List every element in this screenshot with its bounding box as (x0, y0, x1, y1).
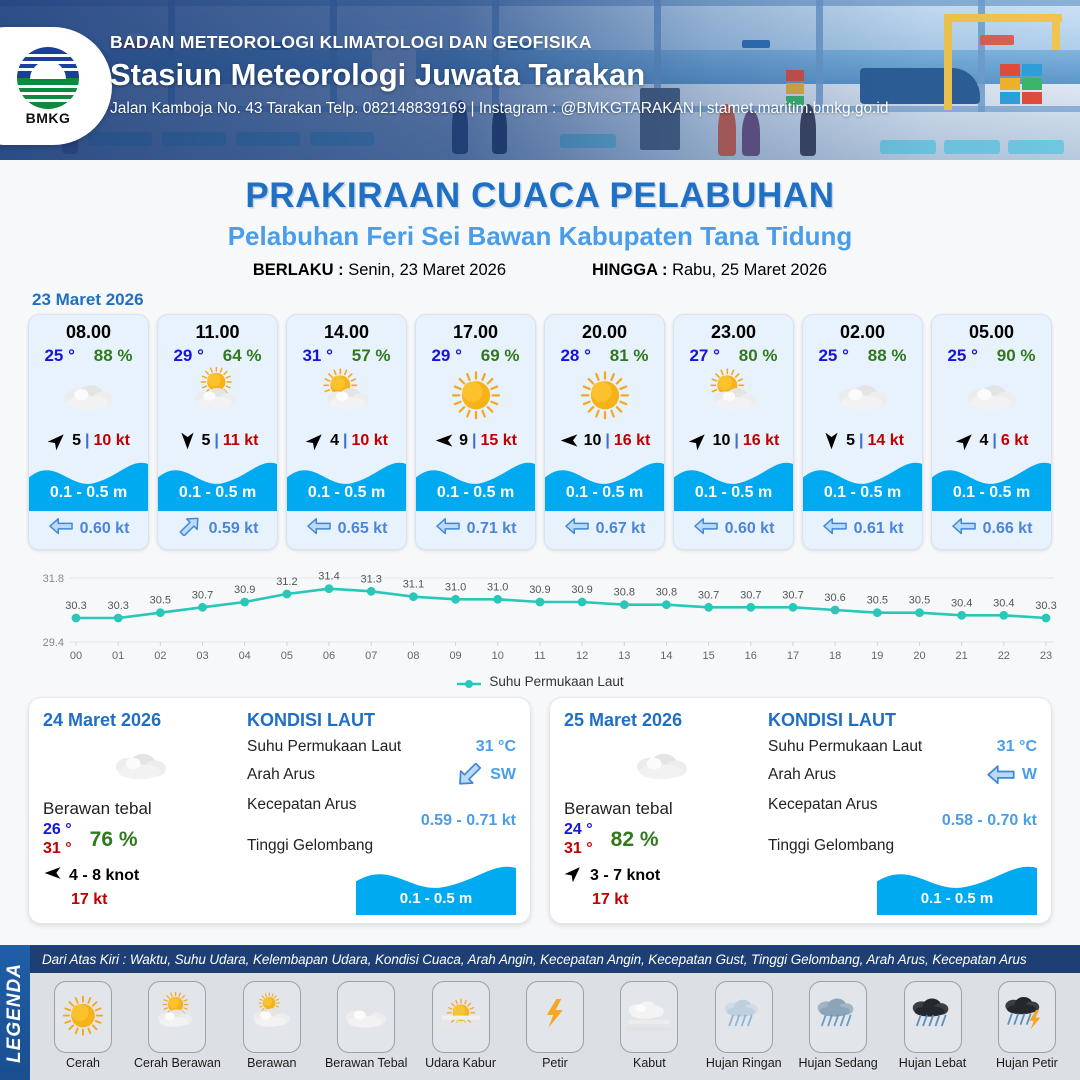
card-humidity: 90 % (997, 346, 1036, 366)
wind-direction-ne-icon (688, 430, 709, 451)
card-wave-zone: 0.1 - 0.5 m (29, 455, 148, 511)
card-time: 11.00 (158, 315, 277, 343)
panel-wave-value: 0.1 - 0.5 m (356, 890, 516, 907)
wave-graphic-icon (932, 455, 1051, 511)
card-wind-separator: | (734, 432, 738, 450)
card-time: 08.00 (29, 315, 148, 343)
card-humidity: 69 % (481, 346, 520, 366)
legend-item-icon-box (998, 981, 1056, 1053)
card-wave-zone: 0.1 - 0.5 m (674, 455, 793, 511)
card-wave-height: 0.1 - 0.5 m (803, 484, 922, 502)
fog-icon (624, 992, 674, 1042)
card-wind-speed: 4 (980, 432, 989, 450)
svg-text:08: 08 (407, 650, 419, 662)
card-wind-row: 10 | 16 kt (545, 426, 664, 453)
card-gust-speed: 6 kt (1001, 432, 1029, 450)
svg-text:04: 04 (239, 650, 251, 662)
svg-text:12: 12 (576, 650, 588, 662)
svg-text:30.6: 30.6 (824, 592, 845, 604)
wind-direction-w-icon (559, 430, 580, 451)
bmkg-logo-text: BMKG (10, 110, 86, 126)
legend-item-icon-box (148, 981, 206, 1053)
panel-wind-row: 4 - 8 knot (43, 863, 239, 888)
card-wave-height: 0.1 - 0.5 m (158, 484, 277, 502)
card-wind-direction (688, 430, 709, 451)
card-temperature: 31 ° (302, 346, 332, 366)
cloudy-icon (110, 735, 172, 797)
svg-text:29.4: 29.4 (43, 637, 64, 649)
wind-direction-w-icon (43, 863, 63, 883)
card-humidity: 64 % (223, 346, 262, 366)
forecast-card[interactable]: 05.00 25 ° 90 % 4 | 6 kt 0.1 - 0.5 m (931, 314, 1052, 550)
card-weather-icon (674, 368, 793, 426)
card-wave-zone: 0.1 - 0.5 m (287, 455, 406, 511)
svg-text:00: 00 (70, 650, 82, 662)
berlaku-label: BERLAKU : (253, 261, 344, 279)
current-direction-w-icon (822, 516, 848, 536)
svg-text:01: 01 (112, 650, 124, 662)
legend-item: Berawan (229, 981, 315, 1070)
panel-current-speed-label: Kecepatan Arus (247, 796, 356, 814)
panel-wind-direction (43, 863, 63, 888)
current-direction-w-icon (48, 516, 74, 536)
legend-item-icon-box (526, 981, 584, 1053)
legend-item: Cerah Berawan (134, 981, 220, 1070)
panel-wind-row: 3 - 7 knot (564, 863, 760, 888)
svg-text:31.0: 31.0 (487, 582, 508, 594)
card-wind-row: 5 | 11 kt (158, 426, 277, 453)
card-time: 14.00 (287, 315, 406, 343)
panel-temp-max: 31 ° (43, 840, 72, 858)
legend-item: Berawan Tebal (323, 981, 409, 1070)
panel-condition: Berawan tebal (43, 799, 239, 819)
cloudy-icon (631, 735, 693, 797)
sunny-icon (575, 367, 635, 427)
card-wind-direction (305, 430, 326, 451)
svg-text:09: 09 (449, 650, 461, 662)
card-current-speed: 0.71 kt (467, 520, 517, 538)
card-temperature: 27 ° (689, 346, 719, 366)
cloudy-icon (962, 367, 1022, 427)
card-temperature: 25 ° (947, 346, 977, 366)
svg-text:30.7: 30.7 (192, 590, 213, 602)
panel-sst-value: 31 °C (997, 738, 1037, 756)
bmkg-logo-icon (17, 47, 79, 109)
card-weather-icon (545, 368, 664, 426)
legend-item-label: Hujan Lebat (899, 1056, 966, 1070)
card-temperature: 25 ° (44, 346, 74, 366)
panel-date: 25 Maret 2026 (564, 710, 760, 731)
legend-item: Udara Kabur (418, 981, 504, 1070)
validity-row: BERLAKU : Senin, 23 Maret 2026 HINGGA : … (0, 261, 1080, 280)
legend-item: Hujan Ringan (701, 981, 787, 1070)
card-wind-direction (821, 430, 842, 451)
legend-item-icon-box (809, 981, 867, 1053)
svg-text:30.9: 30.9 (234, 584, 255, 596)
card-wind-speed: 4 (330, 432, 339, 450)
card-wave-height: 0.1 - 0.5 m (29, 484, 148, 502)
panel-sst-label: Suhu Permukaan Laut (247, 738, 401, 756)
card-time: 20.00 (545, 315, 664, 343)
forecast-card[interactable]: 23.00 27 ° 80 % 10 | 16 kt (673, 314, 794, 550)
panel-temp-min: 26 ° (43, 821, 72, 839)
panel-current-speed-value: 0.59 - 0.71 kt (247, 812, 516, 830)
wave-graphic-icon (29, 455, 148, 511)
legend-side-bar: LEGENDA (0, 945, 30, 1080)
card-current-speed: 0.60 kt (80, 520, 130, 538)
legend-item-icon-box (904, 981, 962, 1053)
partly-cloudy-icon (188, 367, 248, 427)
svg-text:11: 11 (534, 650, 545, 662)
card-wave-zone: 0.1 - 0.5 m (545, 455, 664, 511)
card-weather-icon (416, 368, 535, 426)
wave-graphic-icon (803, 455, 922, 511)
panel-gust: 17 kt (592, 891, 760, 909)
card-wind-separator: | (992, 432, 996, 450)
panel-gust: 17 kt (71, 891, 239, 909)
forecast-card[interactable]: 14.00 31 ° 57 % 4 | 10 kt (286, 314, 407, 550)
sst-chart: 31.829.400010203040506070809101112131415… (10, 564, 1070, 672)
svg-text:30.8: 30.8 (656, 587, 677, 599)
card-wind-speed: 9 (459, 432, 468, 450)
card-wave-height: 0.1 - 0.5 m (545, 484, 664, 502)
card-wind-speed: 5 (202, 432, 211, 450)
card-temperature: 25 ° (818, 346, 848, 366)
svg-text:19: 19 (871, 650, 883, 662)
svg-text:23: 23 (1040, 650, 1052, 662)
forecast-card[interactable]: 17.00 29 ° 69 % 9 | 15 kt 0.1 - 0.5 m (415, 314, 536, 550)
svg-text:30.3: 30.3 (107, 600, 128, 612)
wind-direction-ne-icon (47, 430, 68, 451)
card-time: 05.00 (932, 315, 1051, 343)
current-direction-w-icon (951, 516, 977, 536)
mostly-cloudy-icon (247, 992, 297, 1042)
wind-direction-s-icon (177, 430, 198, 451)
lightning-icon (530, 992, 580, 1042)
card-gust-speed: 16 kt (743, 432, 779, 450)
legend-item-label: Cerah (66, 1056, 100, 1070)
svg-text:18: 18 (829, 650, 841, 662)
forecast-card[interactable]: 20.00 28 ° 81 % 10 | 16 kt 0.1 - 0.5 m (544, 314, 665, 550)
svg-text:10: 10 (492, 650, 504, 662)
legend-item-label: Berawan (247, 1056, 296, 1070)
cloudy-icon (341, 992, 391, 1042)
chart-legend-label: Suhu Permukaan Laut (489, 674, 623, 689)
legend-item-label: Berawan Tebal (325, 1056, 407, 1070)
card-humidity: 81 % (610, 346, 649, 366)
wave-graphic-icon (287, 455, 406, 511)
card-current-direction (564, 516, 590, 541)
cloudy-icon (59, 367, 119, 427)
card-wind-direction (47, 430, 68, 451)
card-humidity: 57 % (352, 346, 391, 366)
svg-text:03: 03 (196, 650, 208, 662)
mostly-sunny-icon (317, 367, 377, 427)
current-direction-w-icon (435, 516, 461, 536)
card-wind-separator: | (605, 432, 609, 450)
svg-text:31.4: 31.4 (318, 571, 339, 583)
card-wind-direction (955, 430, 976, 451)
card-temperature: 29 ° (173, 346, 203, 366)
card-wave-height: 0.1 - 0.5 m (416, 484, 535, 502)
panel-current-dir-value: SW (454, 763, 516, 786)
thunderstorm-icon (1002, 992, 1052, 1042)
card-weather-icon (803, 368, 922, 426)
legend-item: Hujan Sedang (795, 981, 881, 1070)
hingga-value: Rabu, 25 Maret 2026 (672, 261, 827, 279)
page-header: BMKG BADAN METEOROLOGI KLIMATOLOGI DAN G… (0, 0, 1080, 160)
svg-text:30.7: 30.7 (782, 590, 803, 602)
card-wind-row: 5 | 14 kt (803, 426, 922, 453)
legend-item-label: Cerah Berawan (134, 1056, 221, 1070)
card-wave-height: 0.1 - 0.5 m (287, 484, 406, 502)
sunny-icon (58, 992, 108, 1042)
forecast-day-label: 23 Maret 2026 (32, 290, 1080, 310)
card-humidity: 80 % (739, 346, 778, 366)
panel-humidity: 82 % (611, 828, 659, 852)
card-current-row: 0.66 kt (932, 511, 1051, 549)
card-time: 02.00 (803, 315, 922, 343)
chart-legend: Suhu Permukaan Laut (0, 674, 1080, 689)
berlaku-value: Senin, 23 Maret 2026 (348, 261, 506, 279)
current-direction-ne-icon (177, 516, 203, 536)
svg-text:31.1: 31.1 (403, 579, 424, 591)
card-current-direction (822, 516, 848, 541)
panel-wave-graphic: 0.1 - 0.5 m (356, 861, 516, 915)
legend-item-icon-box (337, 981, 395, 1053)
card-wind-separator: | (214, 432, 218, 450)
legend-item-icon-box (54, 981, 112, 1053)
card-wind-separator: | (472, 432, 476, 450)
wave-graphic-icon (545, 455, 664, 511)
legend-item-label: Hujan Ringan (706, 1056, 782, 1070)
wind-direction-w-icon (434, 430, 455, 451)
card-current-direction (48, 516, 74, 541)
card-current-direction (435, 516, 461, 541)
card-wind-speed: 5 (846, 432, 855, 450)
daily-forecast-panel[interactable]: 25 Maret 2026 Berawan tebal 24 ° 31 ° 82… (549, 697, 1052, 924)
panel-sea-title: KONDISI LAUT (768, 710, 1037, 731)
panel-wave-label: Tinggi Gelombang (247, 837, 373, 855)
panel-weather-icon (564, 735, 760, 797)
card-weather-icon (158, 368, 277, 426)
current-direction-w-icon (693, 516, 719, 536)
card-current-speed: 0.65 kt (338, 520, 388, 538)
svg-text:30.4: 30.4 (951, 598, 972, 610)
card-wave-zone: 0.1 - 0.5 m (803, 455, 922, 511)
panel-wind-direction (564, 863, 584, 888)
forecast-card[interactable]: 08.00 25 ° 88 % 5 | 10 kt 0.1 - 0.5 m (28, 314, 149, 550)
card-gust-speed: 15 kt (480, 432, 516, 450)
card-current-row: 0.61 kt (803, 511, 922, 549)
card-gust-speed: 14 kt (867, 432, 903, 450)
svg-text:30.7: 30.7 (740, 590, 761, 602)
svg-text:30.5: 30.5 (867, 595, 888, 607)
card-current-row: 0.71 kt (416, 511, 535, 549)
legend-item: Hujan Petir (984, 981, 1070, 1070)
card-wave-height: 0.1 - 0.5 m (932, 484, 1051, 502)
panel-temp-min: 24 ° (564, 821, 593, 839)
hingga-label: HINGGA : (592, 261, 667, 279)
card-wind-separator: | (343, 432, 347, 450)
legend-item-icon-box (432, 981, 490, 1053)
card-current-row: 0.59 kt (158, 511, 277, 549)
card-wind-separator: | (859, 432, 863, 450)
card-weather-icon (287, 368, 406, 426)
moderate-rain-icon (813, 992, 863, 1042)
wind-direction-ne-icon (305, 430, 326, 451)
legend-item-icon-box (243, 981, 301, 1053)
legend-item-label: Petir (542, 1056, 568, 1070)
card-wave-zone: 0.1 - 0.5 m (932, 455, 1051, 511)
card-current-row: 0.60 kt (29, 511, 148, 549)
card-current-direction (693, 516, 719, 541)
mostly-sunny-icon (704, 367, 764, 427)
hingga-group: HINGGA : Rabu, 25 Maret 2026 (592, 261, 827, 280)
legend-item: Kabut (606, 981, 692, 1070)
card-wind-direction (177, 430, 198, 451)
svg-text:16: 16 (745, 650, 757, 662)
svg-text:30.5: 30.5 (909, 595, 930, 607)
card-current-speed: 0.59 kt (209, 520, 259, 538)
panel-current-speed-label: Kecepatan Arus (768, 796, 877, 814)
legend-item-row: Cerah Cerah Berawan (30, 973, 1080, 1080)
card-current-row: 0.67 kt (545, 511, 664, 549)
svg-text:02: 02 (154, 650, 166, 662)
card-weather-icon (29, 368, 148, 426)
card-time: 17.00 (416, 315, 535, 343)
svg-text:30.5: 30.5 (150, 595, 171, 607)
svg-text:21: 21 (956, 650, 968, 662)
card-gust-speed: 10 kt (351, 432, 387, 450)
header-text-block: BADAN METEOROLOGI KLIMATOLOGI DAN GEOFIS… (110, 32, 889, 118)
legend-item-label: Hujan Sedang (799, 1056, 878, 1070)
card-current-speed: 0.61 kt (854, 520, 904, 538)
light-rain-icon (719, 992, 769, 1042)
card-wave-zone: 0.1 - 0.5 m (416, 455, 535, 511)
legend-caption: Dari Atas Kiri : Waktu, Suhu Udara, Kele… (30, 945, 1080, 973)
svg-text:07: 07 (365, 650, 377, 662)
legend-item-label: Hujan Petir (996, 1056, 1058, 1070)
svg-text:30.9: 30.9 (571, 584, 592, 596)
svg-text:05: 05 (281, 650, 293, 662)
svg-text:31.3: 31.3 (360, 574, 381, 586)
panel-weather-icon (43, 735, 239, 797)
panel-sst-label: Suhu Permukaan Laut (768, 738, 922, 756)
svg-text:14: 14 (660, 650, 672, 662)
panel-wave-graphic: 0.1 - 0.5 m (877, 861, 1037, 915)
sst-chart-svg: 31.829.400010203040506070809101112131415… (10, 564, 1070, 672)
panel-wind-range: 3 - 7 knot (590, 867, 660, 885)
panel-wave-value: 0.1 - 0.5 m (877, 890, 1037, 907)
card-wind-speed: 10 (584, 432, 602, 450)
card-wind-row: 9 | 15 kt (416, 426, 535, 453)
card-current-speed: 0.60 kt (725, 520, 775, 538)
svg-text:30.9: 30.9 (529, 584, 550, 596)
card-current-direction (306, 516, 332, 541)
card-time: 23.00 (674, 315, 793, 343)
wave-graphic-icon (158, 455, 277, 511)
forecast-card[interactable]: 11.00 29 ° 64 % 5 | 11 kt (157, 314, 278, 550)
svg-text:20: 20 (913, 650, 925, 662)
card-current-speed: 0.67 kt (596, 520, 646, 538)
legend-item: Cerah (40, 981, 126, 1070)
berlaku-group: BERLAKU : Senin, 23 Maret 2026 (253, 261, 506, 280)
station-name: Stasiun Meteorologi Juwata Tarakan (110, 57, 889, 93)
card-wind-separator: | (85, 432, 89, 450)
legend-item-label: Kabut (633, 1056, 666, 1070)
svg-text:31.0: 31.0 (445, 582, 466, 594)
legend-item: Petir (512, 981, 598, 1070)
card-weather-icon (932, 368, 1051, 426)
svg-text:22: 22 (998, 650, 1010, 662)
panel-humidity: 76 % (90, 828, 138, 852)
card-wind-row: 4 | 6 kt (932, 426, 1051, 453)
contact-line: Jalan Kamboja No. 43 Tarakan Telp. 08214… (110, 100, 889, 118)
card-current-row: 0.65 kt (287, 511, 406, 549)
wind-direction-ne-icon (564, 863, 584, 883)
card-humidity: 88 % (868, 346, 907, 366)
panel-sst-value: 31 °C (476, 738, 516, 756)
current-direction-w-icon (564, 516, 590, 536)
svg-text:15: 15 (702, 650, 714, 662)
card-gust-speed: 16 kt (614, 432, 650, 450)
card-wind-speed: 5 (72, 432, 81, 450)
card-current-direction (177, 516, 203, 541)
daily-forecast-panel[interactable]: 24 Maret 2026 Berawan tebal 26 ° 31 ° 76… (28, 697, 531, 924)
card-wind-row: 10 | 16 kt (674, 426, 793, 453)
legend-item-icon-box (715, 981, 773, 1053)
wave-graphic-icon (674, 455, 793, 511)
forecast-card[interactable]: 02.00 25 ° 88 % 5 | 14 kt 0.1 - 0.5 m (802, 314, 923, 550)
chart-legend-marker-icon (456, 677, 482, 687)
daily-panel-row: 24 Maret 2026 Berawan tebal 26 ° 31 ° 76… (0, 689, 1080, 924)
svg-text:06: 06 (323, 650, 335, 662)
panel-temp-max: 31 ° (564, 840, 593, 858)
panel-sea-title: KONDISI LAUT (247, 710, 516, 731)
svg-text:30.4: 30.4 (993, 598, 1014, 610)
partly-cloudy-icon (152, 992, 202, 1042)
card-gust-speed: 11 kt (223, 432, 259, 450)
panel-date: 24 Maret 2026 (43, 710, 239, 731)
card-wave-height: 0.1 - 0.5 m (674, 484, 793, 502)
page-subtitle: Pelabuhan Feri Sei Bawan Kabupaten Tana … (0, 221, 1080, 252)
wind-direction-s-icon (821, 430, 842, 451)
legend-item-icon-box (620, 981, 678, 1053)
wave-graphic-icon (416, 455, 535, 511)
wind-direction-ne-icon (955, 430, 976, 451)
panel-current-dir-label: Arah Arus (768, 766, 836, 784)
svg-text:30.3: 30.3 (65, 600, 86, 612)
legend-item-label: Udara Kabur (425, 1056, 496, 1070)
svg-text:31.2: 31.2 (276, 576, 297, 588)
current-direction-w-icon (306, 516, 332, 536)
svg-text:17: 17 (787, 650, 799, 662)
panel-wind-range: 4 - 8 knot (69, 867, 139, 885)
card-wind-direction (559, 430, 580, 451)
card-gust-speed: 10 kt (93, 432, 129, 450)
legend-item: Hujan Lebat (890, 981, 976, 1070)
panel-current-dir-value: W (986, 763, 1037, 786)
page-title: PRAKIRAAN CUACA PELABUHAN (0, 176, 1080, 216)
panel-condition: Berawan tebal (564, 799, 760, 819)
haze-icon (436, 992, 486, 1042)
card-wind-row: 4 | 10 kt (287, 426, 406, 453)
card-current-row: 0.60 kt (674, 511, 793, 549)
card-temperature: 28 ° (560, 346, 590, 366)
sunny-icon (446, 367, 506, 427)
card-wind-row: 5 | 10 kt (29, 426, 148, 453)
